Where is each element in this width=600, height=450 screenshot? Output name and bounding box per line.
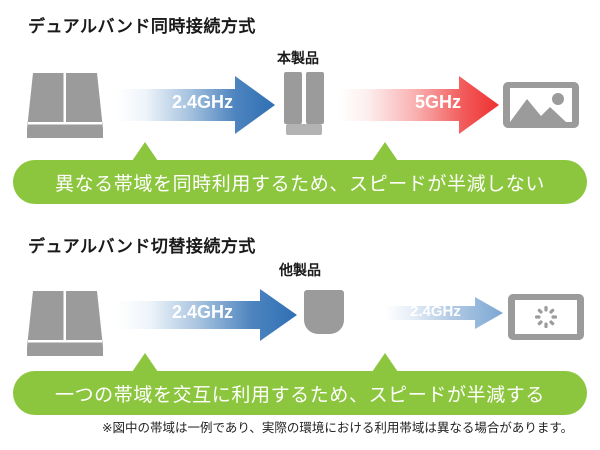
arrow-24ghz-router-to-tv-row2 bbox=[385, 297, 503, 329]
callout-tail-left-row1 bbox=[132, 142, 158, 161]
section-heading-simultaneous: デュアルバンド同時接続方式 bbox=[28, 12, 256, 37]
callout-tail-right-row2 bbox=[372, 353, 398, 372]
device-label-other-product: 他製品 bbox=[279, 260, 321, 280]
arrow-24ghz-modem-to-router-row2 bbox=[117, 289, 297, 341]
router-icon-other-product bbox=[304, 290, 344, 334]
tv-screen-loading bbox=[515, 300, 577, 334]
section-heading-switching: デュアルバンド切替接続方式 bbox=[28, 232, 256, 257]
arrow-5ghz-router-to-tv bbox=[339, 76, 499, 134]
callout-text-switching: 一つの帯域を交互に利用するため、スピードが半減する bbox=[55, 380, 545, 407]
modem-icon bbox=[27, 285, 103, 357]
tv-icon-picture bbox=[503, 82, 579, 128]
footnote-text: ※図中の帯域は一例であり、実際の環境における利用帯域は異なる場合があります。 bbox=[102, 417, 573, 436]
tv-icon-loading bbox=[508, 294, 584, 340]
callout-banner-simultaneous: 異なる帯域を同時利用するため、スピードが半減しない bbox=[13, 160, 587, 204]
callout-banner-switching: 一つの帯域を交互に利用するため、スピードが半減する bbox=[13, 371, 587, 415]
router-icon-own-product bbox=[284, 72, 324, 135]
callout-tail-right-row1 bbox=[372, 142, 398, 161]
callout-tail-left-row2 bbox=[132, 353, 158, 372]
modem-icon bbox=[27, 67, 103, 139]
figure-canvas: デュアルバンド同時接続方式 2.4GHz 本製品 bbox=[0, 0, 600, 450]
arrow-24ghz-modem-to-router bbox=[117, 76, 275, 134]
device-label-own-product: 本製品 bbox=[277, 48, 319, 68]
callout-text-simultaneous: 異なる帯域を同時利用するため、スピードが半減しない bbox=[55, 169, 545, 196]
tv-screen-picture bbox=[510, 88, 572, 122]
